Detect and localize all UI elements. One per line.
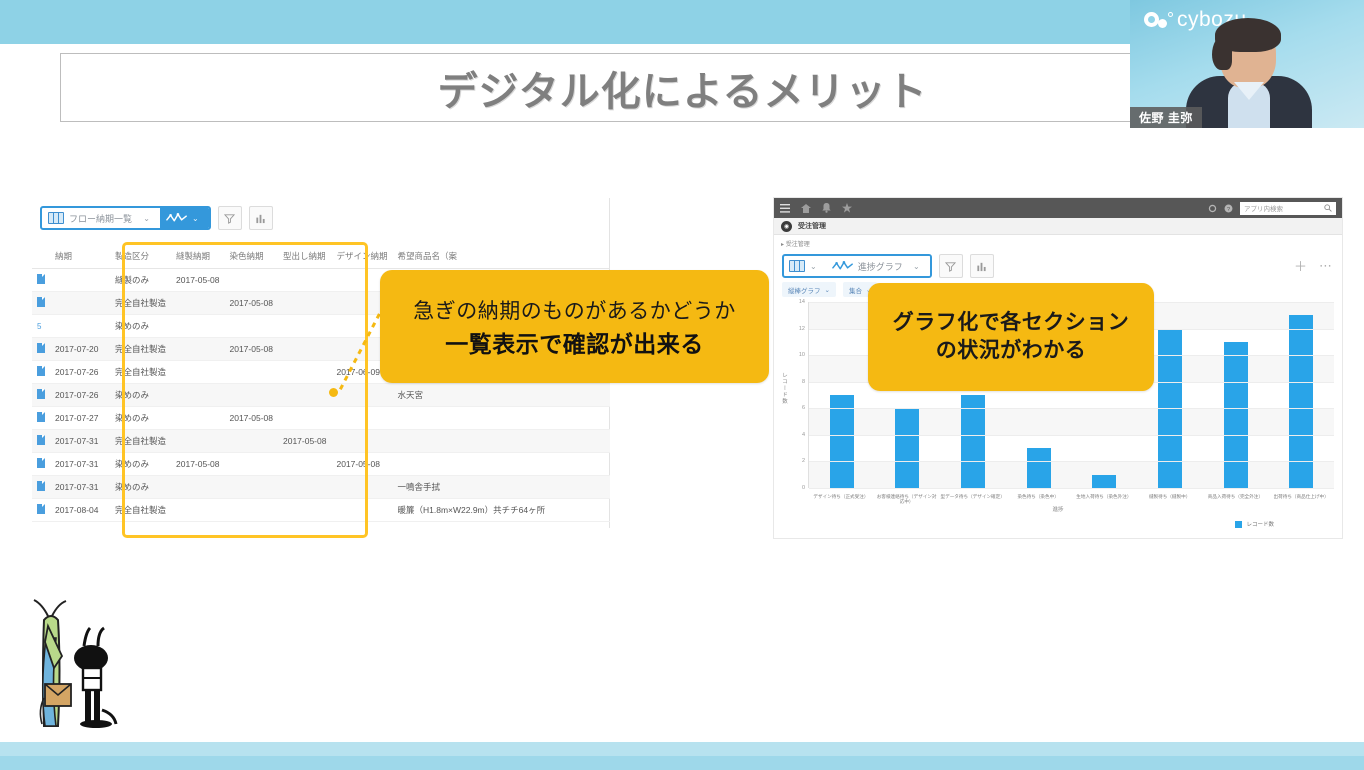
chart-icon — [255, 213, 266, 224]
chart-x-axis-label: 進捗 — [782, 505, 1334, 513]
chart-y-tick: 0 — [802, 485, 805, 491]
chart-group-label: 集合 — [849, 285, 862, 295]
left-app-toolbar: フロー納期一覧 ⌄ ⌄ — [40, 206, 273, 230]
cell-design — [331, 430, 392, 453]
chart-gridline: 2 — [809, 461, 1334, 462]
cell-senshoku — [225, 453, 278, 476]
graph-wave-icon — [832, 260, 854, 272]
cell-nouki: 2017-07-26 — [50, 384, 110, 407]
filter-icon — [945, 261, 956, 272]
cell-nouki — [50, 269, 110, 292]
page-title: デジタル化によるメリット — [438, 59, 928, 117]
cell-kubun: 縫製のみ — [110, 269, 171, 292]
col-design: デザイン納期 — [331, 244, 392, 269]
grasshopper-mascot — [34, 600, 71, 726]
callout-left-line1: 急ぎの納期のものがあるかどうか — [413, 295, 736, 325]
chart-y-tick: 6 — [802, 405, 805, 411]
cell-katadashi — [278, 453, 331, 476]
cell-housei — [171, 430, 224, 453]
chevron-down-icon: ⌄ — [913, 262, 924, 271]
chart-y-tick: 8 — [802, 379, 805, 385]
cell-kubun: 完全自社製造 — [110, 338, 171, 361]
ellipsis-icon[interactable]: ⋯ — [1319, 258, 1332, 274]
chart-gridline: 0 — [809, 488, 1334, 489]
cell-nouki: 2017-07-26 — [50, 361, 110, 384]
document-icon — [37, 274, 45, 284]
cell-katadashi — [278, 407, 331, 430]
chart-icon — [976, 261, 987, 272]
cell-senshoku: 2017-05-08 — [225, 407, 278, 430]
cell-nouki: 2017-07-31 — [50, 476, 110, 499]
document-icon — [37, 297, 45, 307]
callout-left: 急ぎの納期のものがあるかどうか 一覧表示で確認が出来る — [380, 270, 769, 383]
chart-y-tick: 14 — [799, 299, 805, 305]
cell-kubun: 完全自社製造 — [110, 292, 171, 315]
speaker-video-overlay: cybozu 佐野 圭弥 — [1130, 0, 1364, 128]
cell-senshoku — [225, 315, 278, 338]
document-icon — [37, 504, 45, 514]
right-app-actions: ＋ ⋯ — [1294, 256, 1332, 275]
cell-senshoku — [225, 430, 278, 453]
cell-nouki: 2017-08-04 — [50, 499, 110, 522]
cell-senshoku — [225, 361, 278, 384]
cell-katadashi — [278, 292, 331, 315]
left-graph-toggle[interactable]: ⌄ — [160, 208, 209, 228]
cybozu-logo-mark — [1144, 11, 1172, 29]
search-icon — [1324, 204, 1332, 212]
cell-katadashi — [278, 315, 331, 338]
cell-nouki — [50, 292, 110, 315]
cell-housei — [171, 338, 224, 361]
cell-senshoku: 2017-05-08 — [225, 338, 278, 361]
chart-gridline: 6 — [809, 408, 1334, 409]
cell-housei — [171, 384, 224, 407]
table-row[interactable]: 2017-07-31 完全自社製造 2017-05-08 — [32, 430, 610, 453]
table-view-icon — [789, 260, 805, 272]
table-view-icon — [48, 212, 64, 224]
right-app-global-header: ? アプリ内検索 — [774, 198, 1342, 218]
chart-x-tick-labels: デザイン待ち（正式受注）お客様連絡待ち（デザイン対応中）型データ待ち（デザイン確… — [808, 494, 1334, 504]
right-view-label: 進捗グラフ — [858, 260, 903, 273]
col-housei: 縫製納期 — [171, 244, 224, 269]
table-row[interactable]: 2017-07-31 染めのみ 一鳴舎手拭 — [32, 476, 610, 499]
col-kubun: 製造区分 — [110, 244, 171, 269]
filter-icon — [224, 213, 235, 224]
cell-senshoku: 2017-05-08 — [225, 292, 278, 315]
chart-x-tick: 商品入荷待ち（完全外注） — [1203, 494, 1269, 504]
cell-design: 2017-05-08 — [331, 453, 392, 476]
callout-right-line2: の状況がわかる — [936, 337, 1087, 365]
graph-wave-icon — [166, 212, 188, 224]
legend-swatch — [1235, 521, 1242, 528]
cell-katadashi — [278, 476, 331, 499]
col-katadashi: 型出し納期 — [278, 244, 331, 269]
legend-label: レコード数 — [1246, 520, 1274, 528]
help-icon[interactable]: ? — [1224, 204, 1233, 213]
home-icon[interactable] — [801, 204, 811, 213]
cell-kubun: 完全自社製造 — [110, 361, 171, 384]
gear-icon[interactable] — [1208, 204, 1217, 213]
document-icon — [37, 458, 45, 468]
cell-kubun: 完全自社製造 — [110, 499, 171, 522]
chart-y-tick: 12 — [799, 326, 805, 332]
cell-senshoku — [225, 476, 278, 499]
app-icon: ◉ — [781, 221, 792, 232]
callout-leader-dot — [329, 388, 338, 397]
cell-kubun: 染めのみ — [110, 407, 171, 430]
cell-senshoku — [225, 384, 278, 407]
cell-katadashi — [278, 338, 331, 361]
cell-katadashi — [278, 361, 331, 384]
right-filter-button[interactable] — [939, 254, 963, 278]
chart-x-tick: お客様連絡待ち（デザイン対応中） — [874, 494, 940, 504]
cell-name — [392, 430, 610, 453]
chevron-down-icon: ⌄ — [143, 214, 154, 223]
cell-name: 水天宮 — [392, 384, 610, 407]
cell-nouki: 2017-07-31 — [50, 430, 110, 453]
document-icon — [37, 412, 45, 422]
count-icon: 5 — [37, 322, 41, 331]
cell-kubun: 染めのみ — [110, 384, 171, 407]
chart-bar[interactable] — [1027, 448, 1051, 488]
cell-kubun: 染めのみ — [110, 315, 171, 338]
cell-design — [331, 476, 392, 499]
cell-housei — [171, 292, 224, 315]
bell-icon[interactable] — [822, 203, 831, 213]
cell-nouki: 2017-07-27 — [50, 407, 110, 430]
chart-x-tick: デザイン待ち（正式受注） — [808, 494, 874, 504]
right-app-titlebar: ◉ 受注管理 — [774, 218, 1342, 235]
chart-bar-slot — [809, 302, 875, 488]
chart-y-tick: 10 — [799, 352, 805, 358]
cell-name — [392, 407, 610, 430]
table-row[interactable]: 2017-07-26 染めのみ 水天宮 — [32, 384, 610, 407]
chart-x-tick: 型データ待ち（デザイン確定） — [940, 494, 1006, 504]
cell-katadashi — [278, 384, 331, 407]
callout-right: グラフ化で各セクション の状況がわかる — [868, 283, 1154, 391]
hamburger-icon[interactable] — [780, 204, 790, 213]
cell-kubun: 染めのみ — [110, 453, 171, 476]
cell-design — [331, 384, 392, 407]
right-chart-button[interactable] — [970, 254, 994, 278]
cell-design — [331, 499, 392, 522]
mascot-characters — [18, 598, 138, 748]
chart-legend: レコード数 — [1235, 520, 1274, 528]
chart-bar[interactable] — [895, 408, 919, 488]
document-icon — [37, 481, 45, 491]
right-app-toolbar: ⌄ 進捗グラフ ⌄ — [782, 254, 994, 278]
plus-icon[interactable]: ＋ — [1294, 256, 1307, 275]
document-icon — [37, 343, 45, 353]
col-product-name: 希望商品名（案 — [392, 244, 610, 269]
table-row[interactable]: 2017-08-04 完全自社製造 暖簾（H1.8m×W22.9m）共チチ64ヶ… — [32, 499, 610, 522]
chart-x-tick: 出荷待ち（商品仕上げ中） — [1268, 494, 1334, 504]
chevron-down-icon: ⌄ — [810, 262, 821, 271]
col-nouki: 納期 — [50, 244, 110, 269]
cell-senshoku — [225, 269, 278, 292]
chart-bar[interactable] — [1092, 475, 1116, 488]
breadcrumb[interactable]: ▸ 受注管理 — [781, 239, 810, 248]
slide-root: デジタル化によるメリット cybozu 佐野 圭弥 フロー納期一覧 — [0, 0, 1364, 770]
chart-option-chips: 縦棒グラフ ⌄ 集合 ⌄ — [782, 282, 877, 297]
left-chart-button[interactable] — [249, 206, 273, 230]
cell-katadashi — [278, 499, 331, 522]
cell-design — [331, 407, 392, 430]
left-view-label: フロー納期一覧 — [69, 212, 132, 225]
cell-housei: 2017-05-08 — [171, 269, 224, 292]
cell-housei — [171, 407, 224, 430]
cell-nouki: 2017-07-20 — [50, 338, 110, 361]
chart-x-tick: 縫製待ち（縫製中） — [1137, 494, 1203, 504]
table-row[interactable]: 2017-07-31 染めのみ 2017-05-08 2017-05-08 — [32, 453, 610, 476]
cell-name — [392, 453, 610, 476]
cell-senshoku — [225, 499, 278, 522]
chart-gridline: 4 — [809, 435, 1334, 436]
table-row[interactable]: 2017-07-27 染めのみ 2017-05-08 — [32, 407, 610, 430]
speaker-name-badge: 佐野 圭弥 — [1130, 107, 1202, 128]
ant-mascot — [74, 628, 116, 728]
left-view-selector[interactable]: フロー納期一覧 ⌄ ⌄ — [40, 206, 211, 230]
chart-y-tick: 4 — [802, 432, 805, 438]
cell-housei: 2017-05-08 — [171, 453, 224, 476]
chart-bar-slot — [1268, 302, 1334, 488]
chart-y-axis-label: レコード数 — [780, 372, 788, 405]
chart-type-label: 縦棒グラフ — [788, 285, 821, 295]
cell-kubun: 染めのみ — [110, 476, 171, 499]
cell-nouki — [50, 315, 110, 338]
cell-name: 一鳴舎手拭 — [392, 476, 610, 499]
app-title: 受注管理 — [798, 221, 826, 231]
chart-x-tick: 染色待ち（染色中） — [1005, 494, 1071, 504]
cell-housei — [171, 315, 224, 338]
chart-bar-slot — [1203, 302, 1269, 488]
star-icon[interactable] — [842, 203, 852, 213]
cell-nouki: 2017-07-31 — [50, 453, 110, 476]
document-icon — [37, 389, 45, 399]
page-title-box: デジタル化によるメリット — [60, 53, 1305, 122]
breadcrumb-label: 受注管理 — [786, 242, 810, 248]
cell-kubun: 完全自社製造 — [110, 430, 171, 453]
col-senshoku: 染色納期 — [225, 244, 278, 269]
document-icon — [37, 366, 45, 376]
chevron-down-icon: ⌄ — [192, 214, 203, 223]
left-filter-button[interactable] — [218, 206, 242, 230]
right-app-search-input[interactable]: アプリ内検索 — [1240, 202, 1336, 215]
chart-y-tick: 2 — [802, 458, 805, 464]
cell-katadashi — [278, 269, 331, 292]
speaker-figure — [1182, 20, 1332, 128]
table-header-row: 納期 製造区分 縫製納期 染色納期 型出し納期 デザイン納期 希望商品名（案 — [32, 244, 610, 269]
callout-left-line2: 一覧表示で確認が出来る — [445, 325, 704, 359]
cell-housei — [171, 499, 224, 522]
col-icon — [32, 244, 50, 269]
cell-name: 暖簾（H1.8m×W22.9m）共チチ64ヶ所 — [392, 499, 610, 522]
cell-katadashi: 2017-05-08 — [278, 430, 331, 453]
chevron-down-icon: ⌄ — [825, 286, 830, 294]
right-view-selector[interactable]: ⌄ 進捗グラフ ⌄ — [782, 254, 932, 278]
chart-type-chip[interactable]: 縦棒グラフ ⌄ — [782, 282, 836, 297]
cell-housei — [171, 476, 224, 499]
chart-bar[interactable] — [1224, 342, 1248, 488]
chart-x-tick: 生地入荷待ち（染色外注） — [1071, 494, 1137, 504]
document-icon — [37, 435, 45, 445]
bottom-decoration-band-2 — [0, 756, 1364, 770]
callout-right-line1: グラフ化で各セクション — [893, 309, 1130, 337]
cell-housei — [171, 361, 224, 384]
search-placeholder: アプリ内検索 — [1244, 203, 1283, 213]
